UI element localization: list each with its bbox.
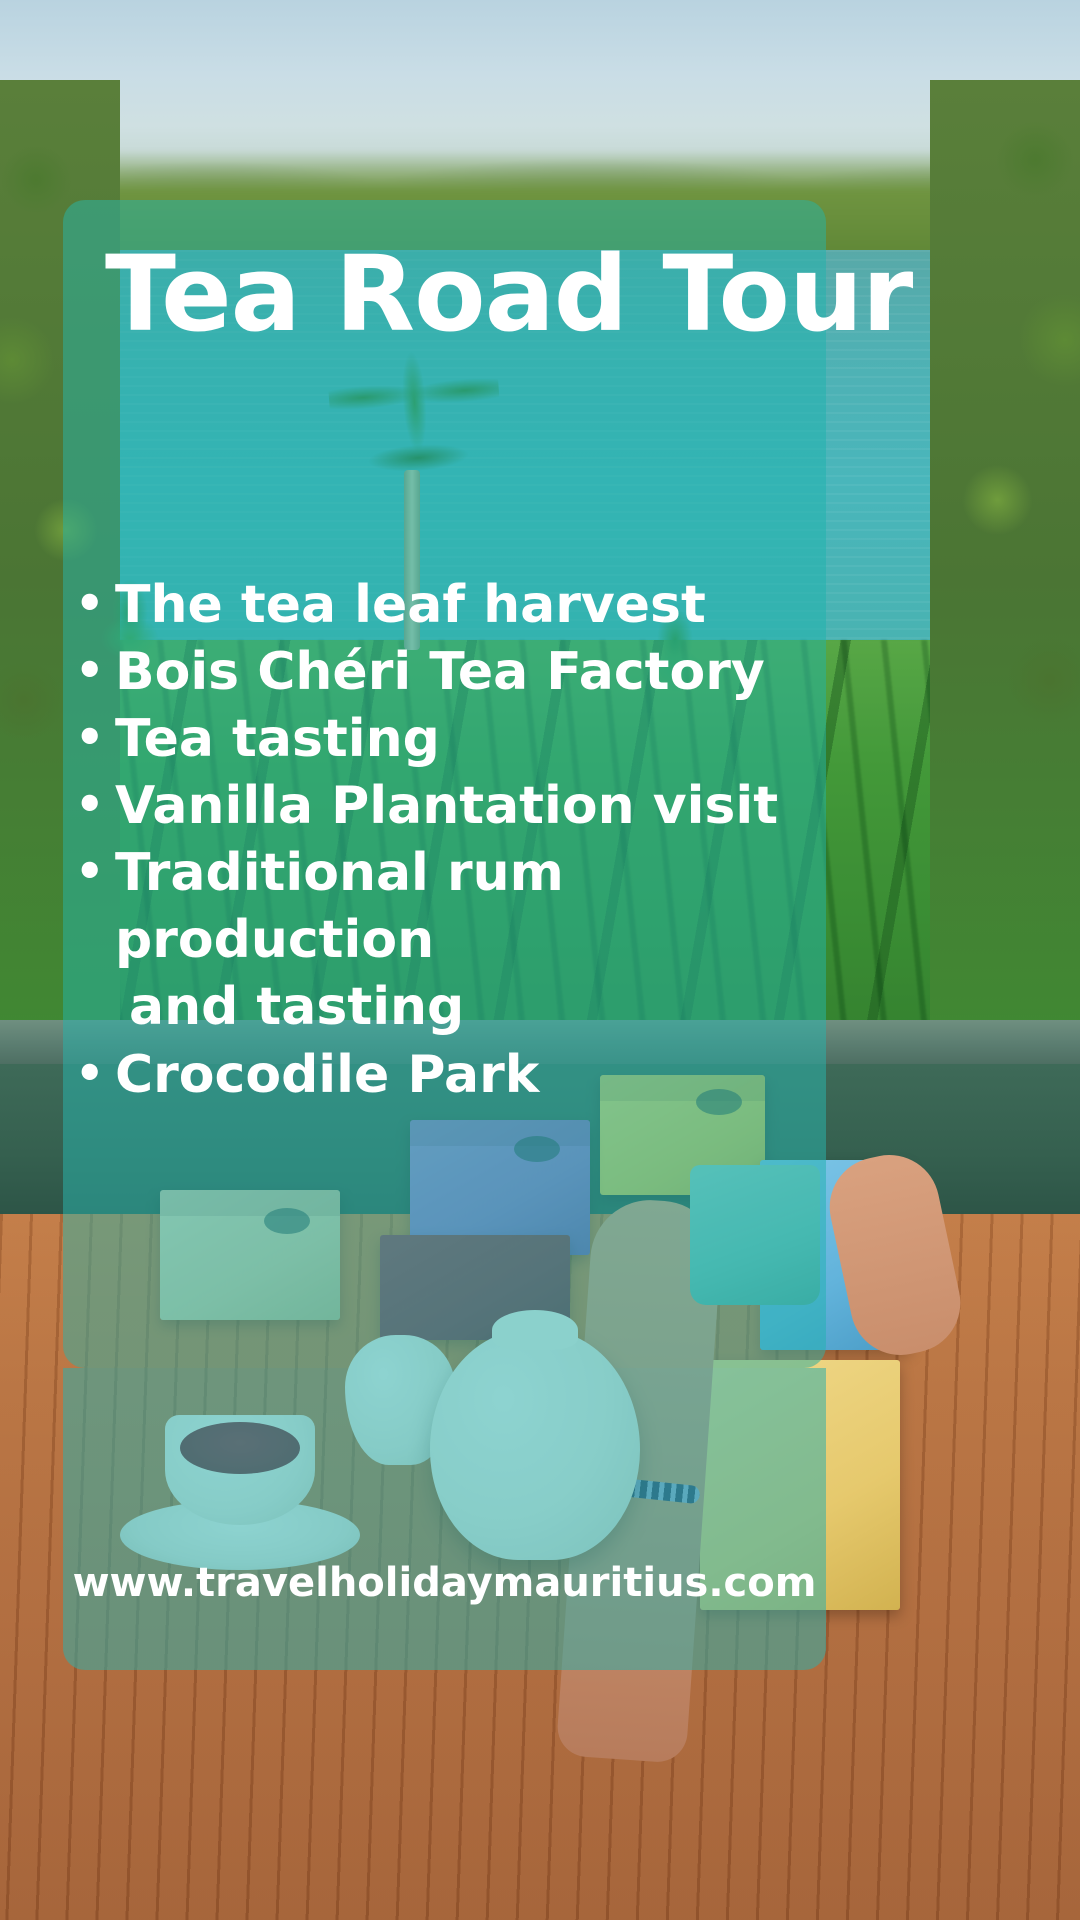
page-title: Tea Road Tour [63, 200, 826, 346]
website-url[interactable]: www.travelholidaymauritius.com [63, 1560, 826, 1606]
list-item-label: Tea tasting [115, 706, 826, 773]
list-item-label: The tea leaf harvest [115, 572, 826, 639]
bullet-icon: • [75, 706, 115, 768]
list-item: • Crocodile Park [75, 1042, 826, 1109]
bullet-icon: • [75, 572, 115, 634]
list-item: • Tea tasting [75, 706, 826, 773]
list-item: • The tea leaf harvest [75, 572, 826, 639]
bullet-icon: • [75, 840, 115, 902]
list-item-label: Vanilla Plantation visit [115, 773, 826, 840]
list-item-label: Traditional rum production and tasting [115, 840, 826, 1041]
list-item: • Bois Chéri Tea Factory [75, 639, 826, 706]
poster-content: Tea Road Tour • The tea leaf harvest • B… [63, 200, 826, 1670]
list-item-label: Crocodile Park [115, 1042, 826, 1109]
list-item: • Vanilla Plantation visit [75, 773, 826, 840]
bullet-icon: • [75, 773, 115, 835]
jungle-right-edge [930, 80, 1080, 1080]
list-item-label-line1: Traditional rum production [115, 843, 564, 970]
tour-highlights-list: • The tea leaf harvest • Bois Chéri Tea … [63, 346, 826, 1109]
travel-poster: Tea Road Tour • The tea leaf harvest • B… [0, 0, 1080, 1920]
list-item-label: Bois Chéri Tea Factory [115, 639, 826, 706]
bullet-icon: • [75, 639, 115, 701]
list-item: • Traditional rum production and tasting [75, 840, 826, 1041]
list-item-label-line2: and tasting [115, 974, 826, 1041]
bullet-icon: • [75, 1042, 115, 1104]
